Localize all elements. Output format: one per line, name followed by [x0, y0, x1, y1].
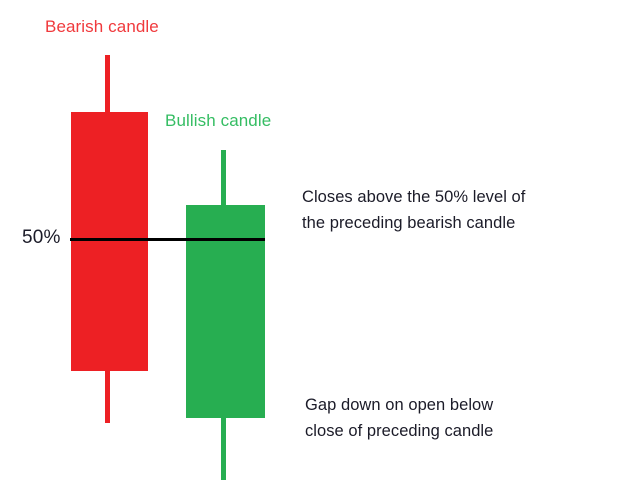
annotation-closes-above-line1: Closes above the 50% level of — [302, 184, 525, 210]
midpoint-reference-line — [70, 238, 265, 241]
bearish-candle-upper-wick — [105, 55, 110, 113]
annotation-closes-above-midpoint: Closes above the 50% level of the preced… — [302, 184, 525, 236]
bearish-candle-body — [71, 112, 148, 371]
annotation-closes-above-line2: the preceding bearish candle — [302, 210, 525, 236]
annotation-gap-down-line2: close of preceding candle — [305, 418, 493, 444]
bullish-candle-upper-wick — [221, 150, 226, 206]
bearish-candle-lower-wick — [105, 370, 110, 423]
bullish-candle-body — [186, 205, 265, 418]
bullish-candle-lower-wick — [221, 417, 226, 480]
annotation-gap-down-line1: Gap down on open below — [305, 392, 493, 418]
midpoint-level-label: 50% — [22, 227, 61, 249]
bearish-candle-label: Bearish candle — [45, 17, 159, 37]
bullish-candle-label: Bullish candle — [165, 111, 271, 131]
candlestick-diagram: 50% Bearish candle Bullish candle Closes… — [0, 0, 640, 500]
annotation-gap-down-on-open: Gap down on open below close of precedin… — [305, 392, 493, 444]
